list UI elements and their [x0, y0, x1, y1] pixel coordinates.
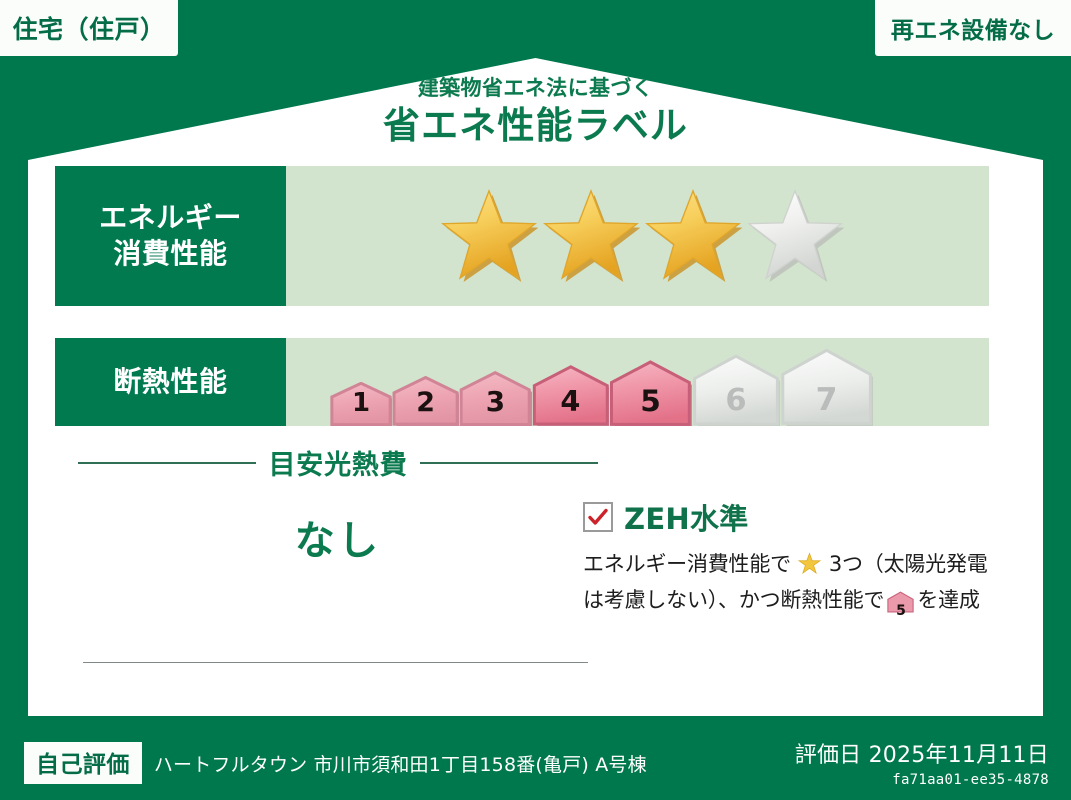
zeh-desc-part3: は考慮しない）、かつ断熱性能で	[583, 588, 884, 612]
page-title: 省エネ性能ラベル	[28, 103, 1043, 149]
zeh-description: エネルギー消費性能で 3つ（太陽光発電 は考慮しない）、かつ断熱性能で 5 を達…	[583, 549, 1013, 623]
utility-cost-heading: 目安光熱費	[78, 443, 598, 482]
insulation-label-text: 断熱性能	[113, 364, 227, 400]
star-icon-filled	[542, 187, 640, 285]
zeh-title: ZEH水準	[624, 496, 749, 538]
property-name: ハートフルタウン 市川市須和田1丁目158番(亀戸) A号棟	[154, 750, 647, 777]
label-card: 建築物省エネ法に基づく 省エネ性能ラベル エネルギー 消費性能 断熱性能 123…	[28, 58, 1043, 716]
evaluation-date: 評価日 2025年11月11日	[795, 737, 1049, 769]
zeh-heading: ZEH水準	[583, 496, 1013, 538]
zeh-block: ZEH水準 エネルギー消費性能で 3つ（太陽光発電 は考慮しない）、かつ断熱性能…	[583, 496, 1013, 623]
insulation-level-1: 1	[330, 382, 392, 426]
energy-performance-label: エネルギー 消費性能	[55, 166, 286, 306]
insulation-level-4: 4	[532, 365, 610, 426]
evaluation-id: fa71aa01-ee35-4878	[795, 772, 1049, 788]
zeh-desc-part2: 3つ（太陽光発電	[829, 552, 988, 576]
utility-cost-divider	[83, 662, 588, 663]
heading-rule-left	[78, 462, 256, 464]
insulation-level-5: 5	[609, 360, 692, 426]
star-icon-filled	[440, 187, 538, 285]
title-subtitle: 建築物省エネ法に基づく	[28, 76, 1043, 101]
title-block: 建築物省エネ法に基づく 省エネ性能ラベル	[28, 76, 1043, 149]
house-icon-number: 5	[887, 601, 914, 622]
badge-dwelling-type: 住宅（住戸）	[0, 0, 178, 56]
heading-rule-right	[420, 462, 598, 464]
insulation-level-number: 2	[392, 387, 459, 418]
insulation-performance-row: 断熱性能 1234567	[55, 338, 989, 426]
energy-label-line1: エネルギー	[99, 200, 242, 236]
insulation-level-number: 4	[532, 384, 610, 418]
zeh-desc-part4: を達成	[917, 588, 979, 612]
insulation-level-number: 1	[330, 388, 392, 418]
energy-performance-row: エネルギー 消費性能	[55, 166, 989, 306]
footer-right: 評価日 2025年11月11日 fa71aa01-ee35-4878	[795, 737, 1049, 788]
badge-self-assessment: 自己評価	[24, 742, 142, 784]
footer-left: 自己評価 ハートフルタウン 市川市須和田1丁目158番(亀戸) A号棟	[24, 742, 647, 784]
insulation-performance-label: 断熱性能	[55, 338, 286, 426]
insulation-level-7: 7	[780, 348, 873, 426]
energy-performance-label: 住宅（住戸） 再エネ設備なし 建築物省エネ法に基づく 省エネ性能ラベル エネルギ…	[0, 0, 1071, 800]
insulation-level-6: 6	[692, 354, 780, 426]
star-icon-empty	[746, 187, 844, 285]
insulation-level-number: 6	[692, 383, 780, 418]
utility-cost-value: なし	[78, 508, 598, 566]
insulation-level-number: 3	[459, 385, 531, 418]
checkbox-checked	[583, 502, 613, 532]
badge-renewable-energy: 再エネ設備なし	[875, 0, 1071, 56]
house-icon-inline: 5	[887, 591, 914, 623]
insulation-level-number: 7	[780, 382, 873, 418]
utility-cost-heading-text: 目安光熱費	[268, 443, 407, 482]
energy-label-line2: 消費性能	[113, 236, 227, 272]
insulation-level-2: 2	[392, 376, 459, 426]
insulation-level-number: 5	[609, 384, 692, 418]
insulation-level-3: 3	[459, 371, 531, 426]
star-icon-filled	[644, 187, 742, 285]
star-icon-inline	[792, 556, 828, 580]
zeh-desc-part1: エネルギー消費性能で	[583, 552, 791, 576]
insulation-level-scale: 1234567	[286, 338, 989, 426]
star-rating	[286, 166, 989, 306]
